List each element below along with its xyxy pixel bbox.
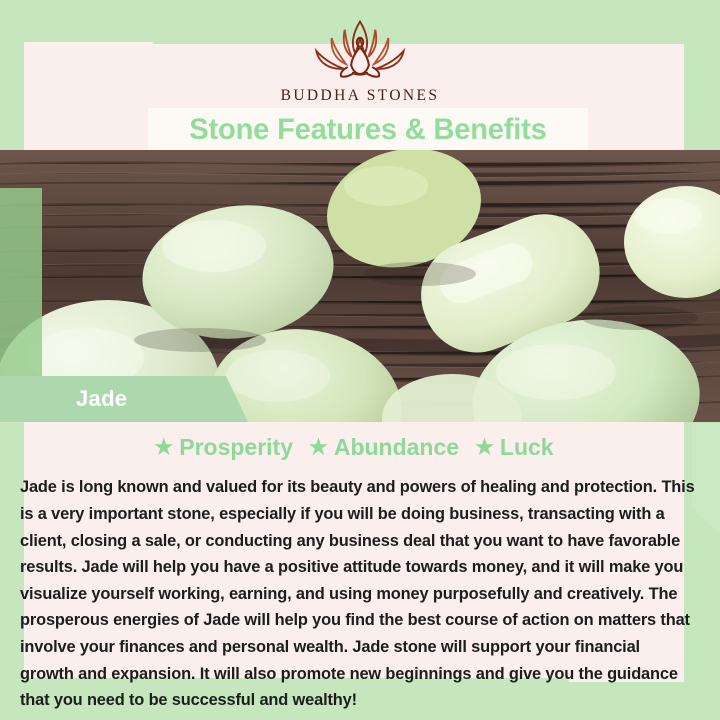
keyword-prosperity: ★ Prosperity [154, 434, 293, 461]
keyword-luck: ★ Luck [475, 434, 554, 461]
star-icon: ★ [309, 437, 328, 458]
keyword-label: Prosperity [179, 434, 293, 461]
stone-description: Jade is long known and valued for its be… [20, 474, 698, 713]
brand-name: BUDDHA STONES [0, 87, 720, 105]
keyword-label: Abundance [334, 434, 459, 461]
lotus-meditation-icon [300, 18, 420, 84]
brand-logo: BUDDHA STONES [0, 18, 720, 105]
keyword-abundance: ★ Abundance [309, 434, 459, 461]
keyword-label: Luck [500, 434, 554, 461]
infographic-card: BUDDHA STONES Stone Features & Benefits [0, 0, 720, 720]
star-icon: ★ [154, 437, 173, 458]
keyword-list: ★ Prosperity ★ Abundance ★ Luck [24, 432, 684, 462]
star-icon: ★ [475, 437, 494, 458]
page-title: Stone Features & Benefits [155, 108, 582, 152]
stone-name-label: Jade [76, 376, 127, 422]
